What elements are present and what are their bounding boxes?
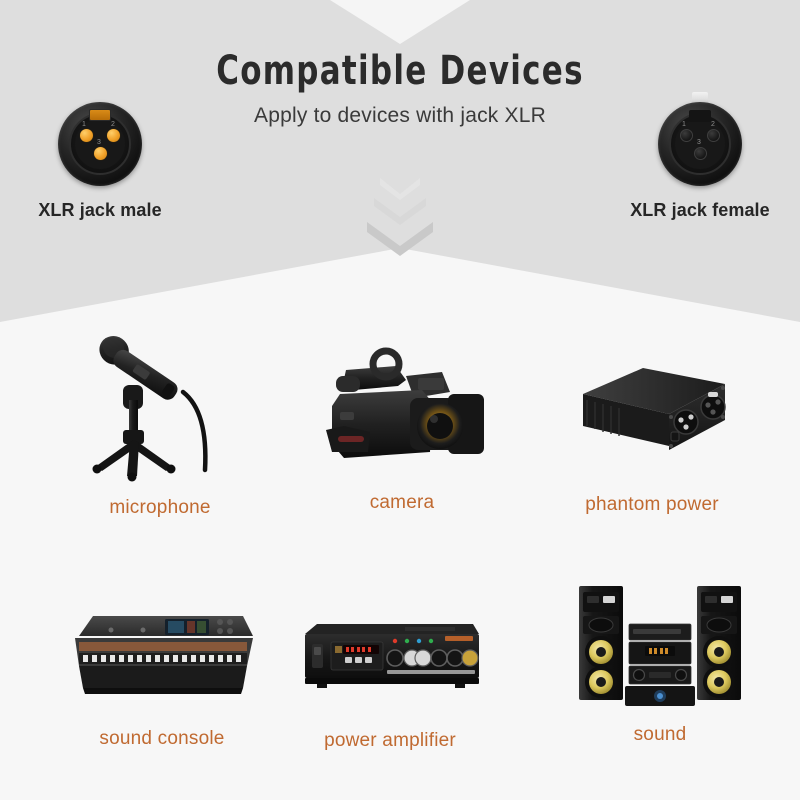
xlr-female-keyway-icon [689,110,711,122]
chevron-down-icon-2 [374,198,426,225]
xlr-male-pin-num-1: 1 [82,121,86,128]
phantom-power-image [552,352,752,474]
device-sound-console: sound console [62,600,262,750]
xlr-female-block: 1 2 3 XLR jack female [600,96,800,221]
xlr-male-label: XLR jack male [0,200,200,221]
infographic-page: Compatible Devices Apply to devices with… [0,0,800,800]
xlr-female-pin-num-1: 1 [682,121,686,128]
device-microphone: microphone [60,330,260,519]
xlr-male-pin-3 [94,147,107,160]
xlr-male-pin-2 [107,129,120,142]
sound-label: sound [560,724,760,746]
device-sound: sound [560,570,760,746]
device-power-amplifier: power amplifier [290,612,490,752]
power-amplifier-image [290,612,490,704]
xlr-male-pin-1 [80,129,93,142]
chevron-down-icon-1 [380,178,420,200]
xlr-female-pin-num-2: 2 [711,121,715,128]
device-phantom-power: phantom power [552,352,752,516]
xlr-male-icon: 1 2 3 [0,96,200,188]
xlr-male-block: 1 2 3 XLR jack male [0,96,200,221]
microphone-image [60,330,260,485]
chevron-down-icon-3 [367,222,433,256]
sound-system-image [560,570,760,708]
page-title: Compatible Devices [56,48,744,94]
camera-label: camera [302,492,502,514]
xlr-female-label: XLR jack female [600,200,800,221]
sound-console-image [62,600,262,708]
phantom-power-label: phantom power [552,494,752,516]
power-amplifier-label: power amplifier [290,730,490,752]
xlr-male-pin-num-3: 3 [97,139,101,146]
xlr-female-icon: 1 2 3 [600,96,800,188]
device-camera: camera [302,340,502,514]
microphone-label: microphone [60,497,260,519]
xlr-female-socket-1 [680,129,693,142]
xlr-male-latch-icon [89,109,111,121]
xlr-female-socket-3 [694,147,707,160]
xlr-female-pin-num-3: 3 [697,139,701,146]
xlr-male-pin-num-2: 2 [111,121,115,128]
xlr-female-socket-2 [707,129,720,142]
sound-console-label: sound console [62,728,262,750]
camera-image [302,340,502,480]
